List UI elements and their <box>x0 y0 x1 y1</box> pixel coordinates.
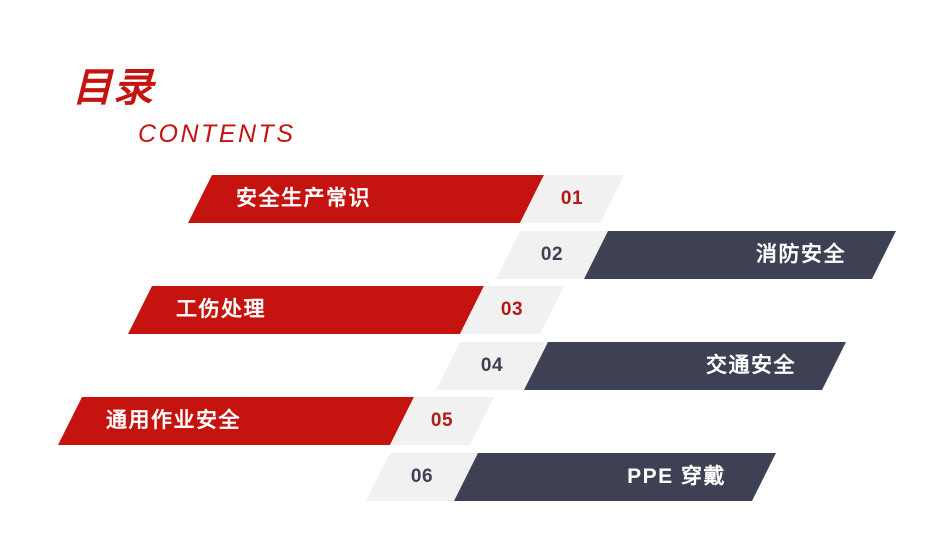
contents-item-label: PPE 穿戴 <box>476 453 726 501</box>
contents-list: 01安全生产常识02消防安全03工伤处理04交通安全05通用作业安全06PPE … <box>0 0 950 535</box>
contents-item-number: 06 <box>382 453 462 501</box>
contents-item-label: 安全生产常识 <box>236 175 522 223</box>
slide-canvas: 目录 CONTENTS 01安全生产常识02消防安全03工伤处理04交通安全05… <box>0 0 950 535</box>
contents-item-label: 交通安全 <box>546 342 796 390</box>
contents-item-number: 02 <box>512 231 592 279</box>
contents-item-label: 通用作业安全 <box>106 397 392 445</box>
contents-item-label: 工伤处理 <box>176 286 462 334</box>
contents-item[interactable]: 06PPE 穿戴 <box>0 453 950 501</box>
contents-item[interactable]: 05通用作业安全 <box>0 397 950 445</box>
contents-item[interactable]: 01安全生产常识 <box>0 175 950 223</box>
contents-item-number: 04 <box>452 342 532 390</box>
contents-item-shapes <box>0 453 950 501</box>
contents-item[interactable]: 03工伤处理 <box>0 286 950 334</box>
contents-item[interactable]: 04交通安全 <box>0 342 950 390</box>
contents-item-label: 消防安全 <box>606 231 846 279</box>
contents-item-number: 05 <box>402 397 482 445</box>
contents-item-number: 01 <box>532 175 612 223</box>
contents-item-number: 03 <box>472 286 552 334</box>
contents-item[interactable]: 02消防安全 <box>0 231 950 279</box>
